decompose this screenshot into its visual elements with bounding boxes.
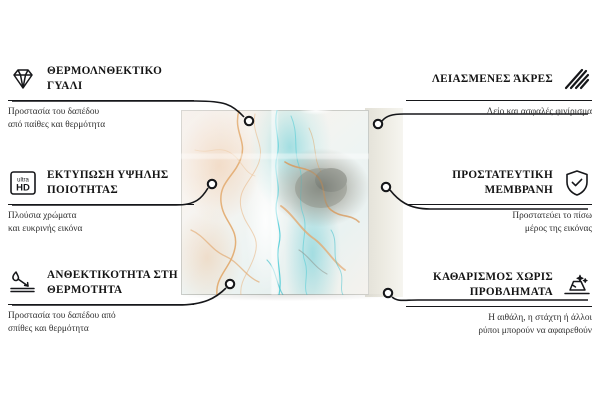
connector-dot-5: [382, 183, 390, 191]
feature-subtitle: Προστασία του δαπέδου απόσπίθες και θερμ…: [8, 310, 194, 336]
feature-high-quality-print: ultra HD ΕΚΤΥΠΩΣΗ ΥΨΗΛΗΣ ΠΟΙΟΤΗΤΑΣ Πλούσ…: [8, 166, 194, 236]
feature-header: ΚΑΘΑΡΙΣΜΟΣ ΧΩΡΙΣ ΠΡΟΒΛΗΜΑΤΑ: [406, 268, 592, 302]
feature-protective-membrane: ΠΡΟΣΤΑΤΕΥΤΙΚΗ ΜΕΜΒΡΑΝΗ Προστατεύει το πί…: [406, 166, 592, 236]
feature-easy-cleaning: ΚΑΘΑΡΙΣΜΟΣ ΧΩΡΙΣ ΠΡΟΒΛΗΜΑΤΑ Η αιθάλη, η …: [406, 268, 592, 338]
flame-deflect-icon: [8, 268, 38, 298]
ultra-hd-icon: ultra HD: [8, 168, 38, 198]
svg-text:HD: HD: [16, 183, 30, 194]
feature-header: ΑΝΘΕΚΤΙΚΟΤΗΤΑ ΣΤΗ ΘΕΡΜΟΤΗΤΑ: [8, 266, 194, 300]
feature-title: ΠΡΟΣΤΑΤΕΥΤΙΚΗ ΜΕΜΒΡΑΝΗ: [406, 168, 553, 198]
feature-divider: [406, 204, 592, 205]
feature-divider: [406, 306, 592, 307]
feature-subtitle: Προστατεύει το πίσωμέρος της εικόνας: [406, 210, 592, 236]
feature-title: ΛΕΙΑΣΜΕΝΕΣ ΆΚΡΕΣ: [406, 72, 553, 87]
feature-divider: [8, 304, 194, 305]
diamond-icon: [8, 64, 38, 94]
feature-title: ΕΚΤΥΠΩΣΗ ΥΨΗΛΗΣ ΠΟΙΟΤΗΤΑΣ: [47, 168, 194, 198]
shield-check-icon: [562, 168, 592, 198]
feature-heat-resistant-glass: ΘΕΡΜΟΛΝΘΕΚΤΙΚΟ ΓΥΑΛΙ Προστασία του δαπέδ…: [8, 62, 194, 132]
connector-dot-3: [226, 280, 234, 288]
feature-divider: [406, 100, 592, 101]
hatched-edge-icon: [562, 64, 592, 94]
connector-dot-6: [384, 289, 392, 297]
feature-subtitle: Προστασία του δαπέδουαπό παίθες και θερμ…: [8, 106, 194, 132]
feature-header: ultra HD ΕΚΤΥΠΩΣΗ ΥΨΗΛΗΣ ΠΟΙΟΤΗΤΑΣ: [8, 166, 194, 200]
feature-header: ΠΡΟΣΤΑΤΕΥΤΙΚΗ ΜΕΜΒΡΑΝΗ: [406, 166, 592, 200]
feature-header: ΛΕΙΑΣΜΕΝΕΣ ΆΚΡΕΣ: [406, 62, 592, 96]
feature-title: ΚΑΘΑΡΙΣΜΟΣ ΧΩΡΙΣ ΠΡΟΒΛΗΜΑΤΑ: [406, 270, 553, 300]
sparkle-sponge-icon: [562, 270, 592, 300]
connector-dot-1: [245, 117, 253, 125]
feature-subtitle: Λείο και ασφαλές φινίρισμα: [406, 106, 592, 119]
feature-subtitle: Πλούσια χρώματακαι ευκρινής εικόνα: [8, 210, 194, 236]
infographic-canvas: ΘΕΡΜΟΛΝΘΕΚΤΙΚΟ ΓΥΑΛΙ Προστασία του δαπέδ…: [0, 0, 600, 400]
feature-title: ΑΝΘΕΚΤΙΚΟΤΗΤΑ ΣΤΗ ΘΕΡΜΟΤΗΤΑ: [47, 268, 194, 298]
feature-title: ΘΕΡΜΟΛΝΘΕΚΤΙΚΟ ΓΥΑΛΙ: [47, 64, 194, 94]
feature-divider: [8, 204, 194, 205]
feature-divider: [8, 100, 194, 101]
feature-heat-durability: ΑΝΘΕΚΤΙΚΟΤΗΤΑ ΣΤΗ ΘΕΡΜΟΤΗΤΑ Προστασία το…: [8, 266, 194, 336]
connector-dot-2: [208, 180, 216, 188]
feature-header: ΘΕΡΜΟΛΝΘΕΚΤΙΚΟ ΓΥΑΛΙ: [8, 62, 194, 96]
feature-subtitle: Η αιθάλη, η στάχτη ή άλλοιρύποι μπορούν …: [406, 312, 592, 338]
feature-polished-edges: ΛΕΙΑΣΜΕΝΕΣ ΆΚΡΕΣ Λείο και ασφαλές φινίρι…: [406, 62, 592, 119]
connector-dot-4: [374, 120, 382, 128]
